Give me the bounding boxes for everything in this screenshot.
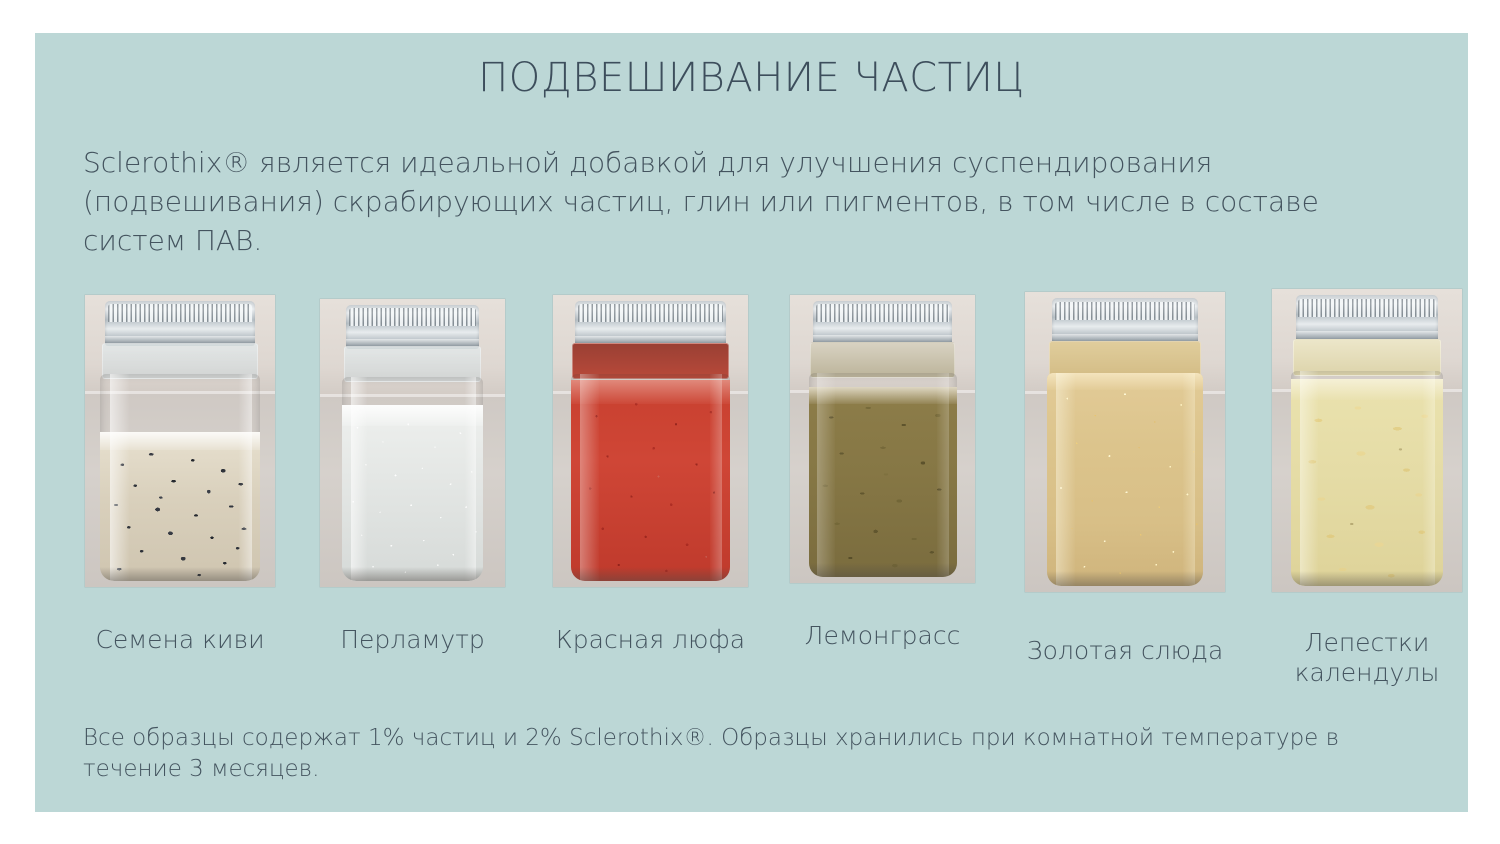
body-line-3: систем ПАВ. — [83, 221, 1418, 260]
sample-gallery: Семена киви — [35, 295, 1468, 715]
sample-item-red-loofah: Красная люфа — [553, 295, 748, 587]
jar-graphic — [1291, 295, 1443, 586]
footnote-text: Все образцы содержат 1% частиц и 2% Scle… — [83, 723, 1433, 785]
sample-label-text-line2: календулы — [1272, 658, 1462, 688]
glass-highlight-right — [465, 377, 476, 582]
glass-highlight-left — [817, 373, 835, 578]
jar-photo-pearl-mica — [320, 299, 505, 587]
sample-item-calendula-petals: Лепестки календулы — [1272, 295, 1462, 592]
glass-highlight-right — [1183, 373, 1195, 586]
sample-item-pearl-mica: Перламутр — [320, 295, 505, 587]
glass-highlight-left — [110, 374, 129, 581]
sample-label-lemongrass: Лемонграсс — [790, 621, 975, 651]
jar-graphic — [100, 301, 260, 581]
sample-label-text: Красная люфа — [556, 625, 745, 654]
jar-lid — [1052, 298, 1199, 344]
sample-label-text: Лемонграсс — [805, 621, 961, 650]
jar-body — [1047, 373, 1203, 586]
jar-base-shadow — [1291, 571, 1443, 586]
sample-item-lemongrass: Лемонграсс — [790, 295, 975, 583]
lid-knurling — [816, 304, 950, 322]
sample-item-golden-mica: Золотая слюда — [1025, 295, 1225, 592]
jar-base-shadow — [342, 567, 483, 581]
sample-label-text: Золотая слюда — [1027, 636, 1224, 665]
glass-highlight-left — [1300, 371, 1318, 586]
sample-label-calendula-petals: Лепестки календулы — [1272, 628, 1462, 687]
body-paragraph: Sclerothix® является идеальной добавкой … — [83, 143, 1418, 261]
jar-photo-golden-mica — [1025, 292, 1225, 592]
jar-base-shadow — [1047, 571, 1203, 586]
glass-highlight-right — [937, 373, 949, 578]
page-title: ПОДВЕШИВАНИЕ ЧАСТИЦ — [35, 55, 1468, 101]
lid-band — [1296, 331, 1439, 338]
lid-knurling — [578, 304, 722, 322]
jar-base-shadow — [809, 563, 957, 577]
glass-highlight-right — [710, 374, 723, 581]
jar-lid — [1296, 295, 1439, 342]
lid-band — [575, 336, 725, 343]
lid-knurling — [349, 308, 476, 326]
glass-highlight-left — [580, 374, 599, 581]
jar-lid — [346, 305, 478, 349]
jar-graphic — [571, 301, 731, 581]
glass-highlight-right — [239, 374, 252, 581]
jar-lid — [813, 301, 952, 345]
sample-label-text: Перламутр — [340, 625, 485, 654]
lid-band — [105, 336, 255, 343]
jar-photo-red-loofah — [553, 295, 748, 587]
jar-graphic — [342, 305, 483, 581]
jar-photo-kiwi-seeds — [85, 295, 275, 587]
lid-knurling — [1298, 299, 1435, 318]
sample-item-kiwi-seeds: Семена киви — [85, 295, 275, 587]
sample-label-kiwi-seeds: Семена киви — [85, 625, 275, 655]
sample-label-pearl-mica: Перламутр — [320, 625, 505, 655]
sample-label-text: Лепестки — [1272, 628, 1462, 658]
jar-photo-calendula-petals — [1272, 289, 1462, 592]
body-line-1: Sclerothix® является идеальной добавкой … — [83, 143, 1418, 182]
glass-highlight-left — [1056, 373, 1075, 586]
lid-knurling — [1055, 302, 1196, 320]
jar-graphic — [1047, 298, 1203, 586]
jar-base-shadow — [100, 567, 260, 582]
sample-label-red-loofah: Красная люфа — [553, 625, 748, 655]
jar-photo-lemongrass — [790, 295, 975, 583]
jar-body — [571, 374, 731, 581]
slide-canvas: ПОДВЕШИВАНИЕ ЧАСТИЦ Sclerothix® является… — [35, 33, 1468, 812]
jar-graphic — [809, 301, 957, 577]
jar-body — [100, 374, 260, 581]
lid-knurling — [108, 304, 252, 322]
glass-highlight-left — [351, 377, 368, 582]
jar-base-shadow — [571, 567, 731, 582]
sample-label-text: Семена киви — [95, 625, 264, 654]
sample-label-golden-mica: Золотая слюда — [1025, 636, 1225, 666]
jar-body — [342, 377, 483, 582]
jar-lid — [575, 301, 725, 346]
body-line-2: (подвешивания) скрабирующих частиц, глин… — [83, 182, 1418, 221]
jar-body — [1291, 371, 1443, 586]
jar-lid — [105, 301, 255, 346]
glass-highlight-right — [1423, 371, 1435, 586]
jar-body — [809, 373, 957, 578]
